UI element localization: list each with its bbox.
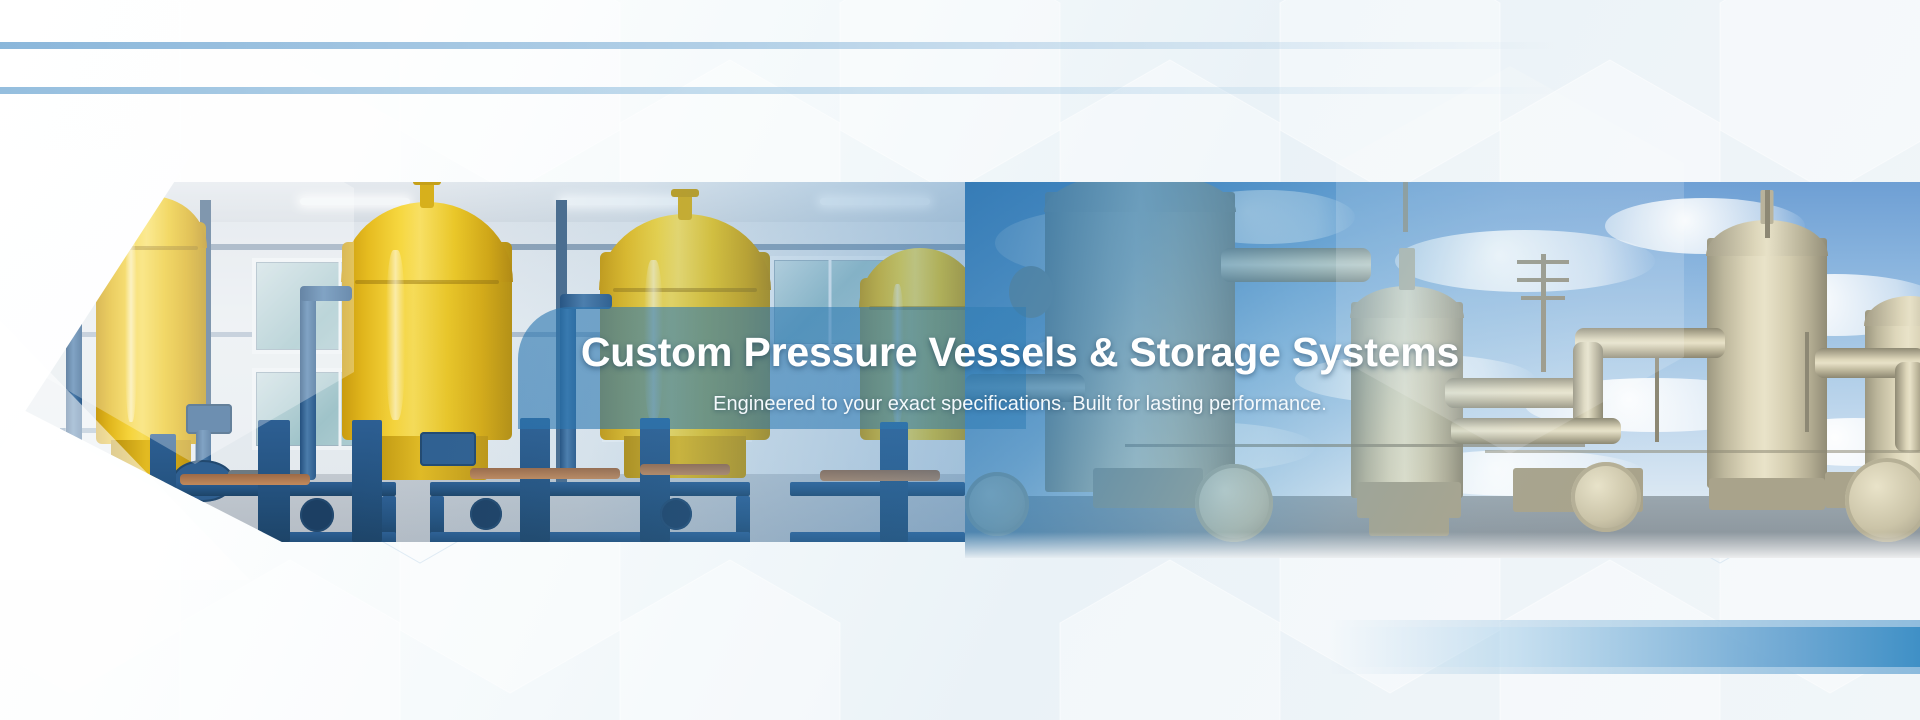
page-title: Custom Pressure Vessels & Storage System… — [120, 330, 1920, 375]
hero-subtitle: Engineered to your exact specifications.… — [120, 391, 1920, 417]
hero-banner: Custom Pressure Vessels & Storage System… — [0, 0, 1920, 720]
top-stripe-shadow — [0, 87, 1560, 94]
top-accent-stripe — [0, 42, 1560, 94]
hero-copy: Custom Pressure Vessels & Storage System… — [0, 330, 1920, 417]
bottom-accent-stripe — [1330, 620, 1920, 674]
top-stripe-highlight — [0, 42, 1560, 49]
top-stripe-core — [0, 49, 1560, 87]
bottom-stripe-core — [1330, 627, 1920, 667]
bottom-stripe-highlight — [1330, 620, 1920, 627]
bottom-stripe-shadow — [1330, 667, 1920, 674]
